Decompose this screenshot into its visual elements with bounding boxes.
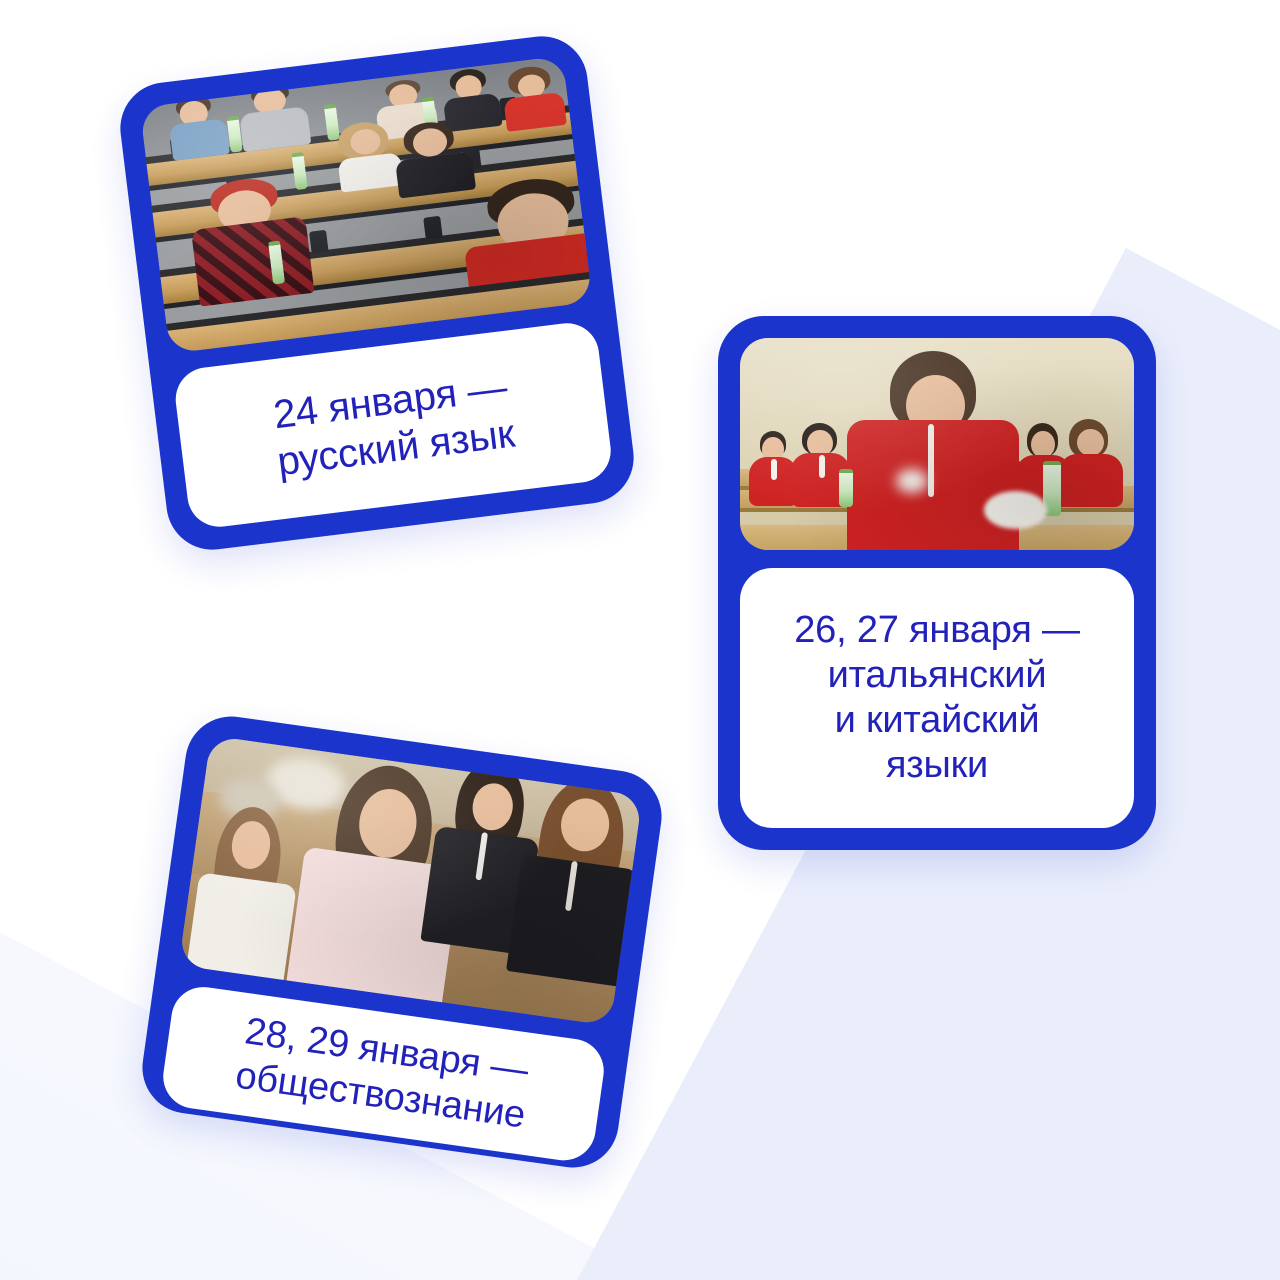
scene-exam-room bbox=[740, 338, 1134, 550]
scene-lecture-hall bbox=[140, 56, 593, 354]
caption-text: 26, 27 января — итальянский и китайский … bbox=[794, 608, 1080, 787]
student-figure bbox=[391, 117, 476, 195]
student-figure bbox=[164, 92, 230, 158]
student-figure bbox=[236, 80, 311, 150]
schedule-poster: 24 января — русский язык bbox=[0, 0, 1280, 1280]
card-italian-chinese-languages[interactable]: 26, 27 января — итальянский и китайский … bbox=[718, 316, 1156, 850]
card-russian-language[interactable]: 24 января — русский язык bbox=[115, 31, 639, 555]
water-bottle bbox=[839, 469, 853, 507]
seat-back bbox=[309, 230, 329, 254]
seat-back bbox=[424, 216, 444, 240]
card-social-studies[interactable]: 28, 29 января — обществознание bbox=[137, 711, 668, 1174]
participant-figure bbox=[752, 431, 795, 503]
participant-figure-foreground bbox=[866, 351, 1000, 550]
photo-lecture-hall bbox=[140, 56, 593, 354]
caption-italian-chinese-languages: 26, 27 января — итальянский и китайский … bbox=[740, 568, 1134, 828]
student-figure-foreground bbox=[192, 174, 307, 300]
scene-students-hall bbox=[179, 735, 643, 1025]
caption-russian-language: 24 января — русский язык bbox=[172, 320, 614, 531]
participant-figure bbox=[1063, 419, 1118, 504]
caption-text: 28, 29 января — обществознание bbox=[233, 1009, 534, 1138]
caption-text: 24 января — русский язык bbox=[269, 364, 517, 487]
student-figure bbox=[500, 64, 566, 130]
photo-students-hall bbox=[179, 735, 643, 1025]
photo-exam-room bbox=[740, 338, 1134, 550]
tshirt-logo bbox=[896, 469, 928, 493]
exam-paper bbox=[984, 491, 1047, 529]
